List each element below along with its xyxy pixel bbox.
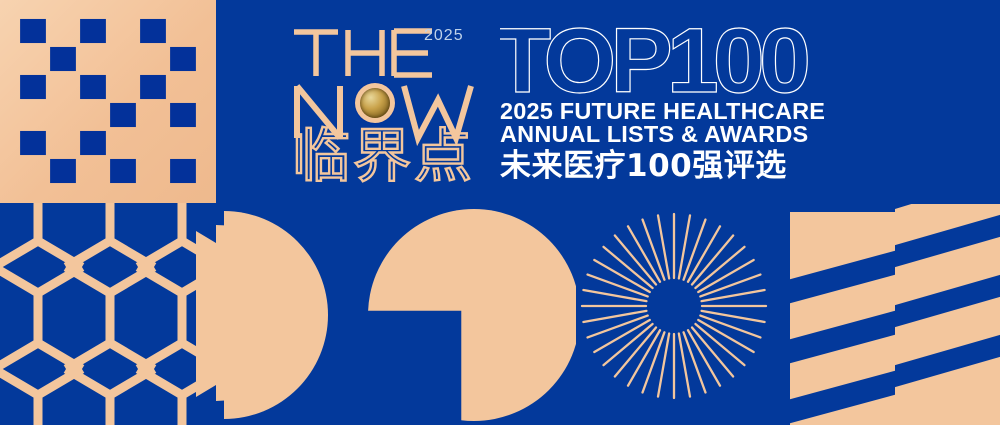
- checker-cell-1-3: [80, 19, 106, 43]
- checker-cell-5-1: [20, 131, 46, 155]
- banner-root: 2025 临界点 TOP100 2025 FUTURE HEALTHCARE A…: [0, 0, 1000, 425]
- subtitle-cn: 未来医疗100强评选: [500, 148, 845, 184]
- checker-cell-5-2: [48, 129, 78, 157]
- checkerboard-grid: [18, 17, 198, 185]
- checker-cell-2-3: [78, 45, 108, 73]
- checker-cell-2-6: [170, 47, 196, 71]
- subtitle-en-line1: 2025 FUTURE HEALTHCARE: [500, 100, 845, 123]
- checker-cell-1-1: [20, 19, 46, 43]
- checkerboard-pattern: [0, 0, 216, 203]
- checker-cell-3-1: [20, 75, 46, 99]
- checker-cell-4-3: [78, 101, 108, 129]
- checker-cell-6-3: [78, 157, 108, 185]
- checker-cell-6-4: [110, 159, 136, 183]
- checker-cell-2-1: [18, 45, 48, 73]
- gold-orb-icon: [355, 83, 395, 123]
- notched-circle-shape: [368, 209, 576, 421]
- hexagon-lattice-pattern: [0, 203, 216, 425]
- checker-cell-2-5: [138, 45, 168, 73]
- checker-cell-1-4: [108, 17, 138, 45]
- checker-cell-4-1: [18, 101, 48, 129]
- checker-cell-4-2: [48, 101, 78, 129]
- logo-year: 2025: [424, 27, 464, 45]
- checker-cell-5-3: [80, 131, 106, 155]
- checker-cell-4-6: [170, 103, 196, 127]
- checker-cell-5-4: [108, 129, 138, 157]
- checker-cell-5-5: [138, 129, 168, 157]
- checker-cell-6-6: [170, 159, 196, 183]
- checker-cell-3-3: [80, 75, 106, 99]
- headline-block: TOP100 2025 FUTURE HEALTHCARE ANNUAL LIS…: [500, 22, 845, 184]
- checker-cell-2-4: [108, 45, 138, 73]
- logo-chinese-glyphs: 临界点: [292, 124, 475, 190]
- starburst-pattern: [580, 212, 768, 400]
- semicircle-shapes: [216, 203, 576, 425]
- subtitle-en-line2: ANNUAL LISTS & AWARDS: [500, 123, 845, 146]
- checker-cell-3-4: [108, 73, 138, 101]
- top100-outline-text: TOP100: [500, 22, 807, 98]
- logo-chinese-text: 临界点: [292, 124, 482, 190]
- checker-cell-1-2: [48, 17, 78, 45]
- checker-cell-6-2: [50, 159, 76, 183]
- checker-cell-5-6: [168, 129, 198, 157]
- checker-cell-3-6: [168, 73, 198, 101]
- checker-cell-6-1: [18, 157, 48, 185]
- checker-cell-1-5: [140, 19, 166, 43]
- checker-cell-3-2: [48, 73, 78, 101]
- checker-cell-4-4: [110, 103, 136, 127]
- checker-cell-3-5: [140, 75, 166, 99]
- top100-title: TOP100: [500, 22, 840, 98]
- diagonal-stripe-panels: [790, 204, 1000, 425]
- checker-cell-6-5: [138, 157, 168, 185]
- semicircle-right: [224, 211, 328, 419]
- checker-cell-4-5: [138, 101, 168, 129]
- checker-cell-2-2: [50, 47, 76, 71]
- checker-cell-1-6: [168, 17, 198, 45]
